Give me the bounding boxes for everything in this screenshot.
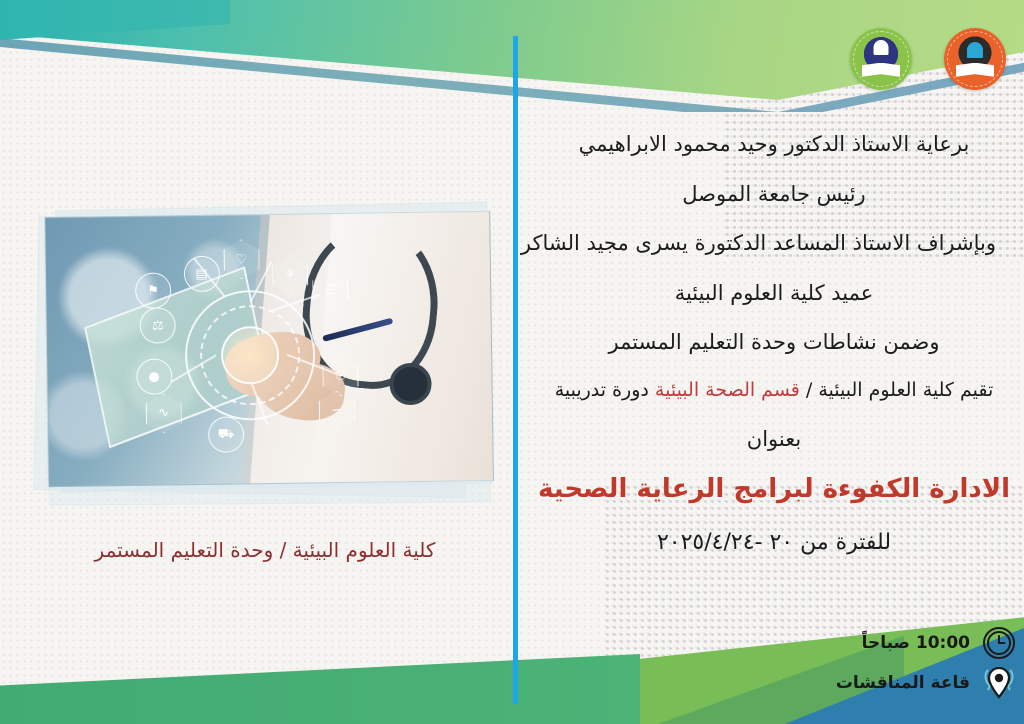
college-unit-caption: كلية العلوم البيئية / وحدة التعليم المست… [40,538,490,562]
drop-icon: ● [136,358,172,394]
president-title-line: رئيس جامعة الموصل [524,178,1024,211]
dean-title-line: عميد كلية العلوم البيئية [524,277,1024,310]
healthcare-photo: ♡ ▤ ⚘ ☰ ⚑ ⚖ ● ∿ ⛟ ☉ ∼ [44,211,494,487]
event-venue-row: قاعة المناقشات [836,664,1016,702]
ambulance-icon: ⛟ [208,416,244,452]
clock-icon [982,626,1016,660]
college-of-environmental-sciences-logo [850,28,912,90]
organizer-prefix: تقيم كلية العلوم البيئية / [800,379,993,401]
dome-icon [874,40,889,55]
photo-stack: ♡ ▤ ⚘ ☰ ⚑ ⚖ ● ∿ ⛟ ☉ ∼ [30,200,500,500]
supervision-line: وبإشراف الاستاذ المساعد الدكتورة يسرى مج… [524,227,1024,260]
location-pin-icon [982,664,1016,702]
course-date-range: للفترة من ٢٠ -٢٠٢٥/٤/٢٤ [524,530,1024,555]
logo-group [850,28,1006,90]
hud-radial-graphic [184,289,316,421]
patronage-line: برعاية الاستاذ الدكتور وحيد محمود الابرا… [524,128,1024,161]
pills-icon: ▤ [183,256,219,292]
course-title: الادارة الكفوءة لبرامج الرعاية الصحية [524,474,1024,504]
organizer-department-highlight: قسم الصحة البيئية [655,379,800,401]
university-of-mosul-logo [944,28,1006,90]
logo-ring [947,31,1003,87]
entitled-label: بعنوان [524,423,1024,456]
dome-icon [967,42,983,58]
organizer-line: تقيم كلية العلوم البيئية / قسم الصحة الب… [524,376,1024,405]
poster-canvas: برعاية الاستاذ الدكتور وحيد محمود الابرا… [0,0,1024,724]
vertical-divider [513,36,518,704]
bottom-left-green-band [0,654,640,724]
event-details-block: 10:00 صباحاً قاعة المناقشات [836,626,1016,706]
logo-ring [853,31,909,87]
event-venue-text: قاعة المناقشات [836,673,970,693]
event-time-text: 10:00 صباحاً [862,633,970,653]
announcement-text-column: برعاية الاستاذ الدكتور وحيد محمود الابرا… [524,128,1024,577]
course-title-wrap: الادارة الكفوءة لبرامج الرعاية الصحية [524,474,1024,504]
organizer-suffix: دورة تدريبية [555,379,655,401]
unit-activities-line: وضمن نشاطات وحدة التعليم المستمر [524,326,1024,359]
event-time-row: 10:00 صباحاً [836,626,1016,660]
